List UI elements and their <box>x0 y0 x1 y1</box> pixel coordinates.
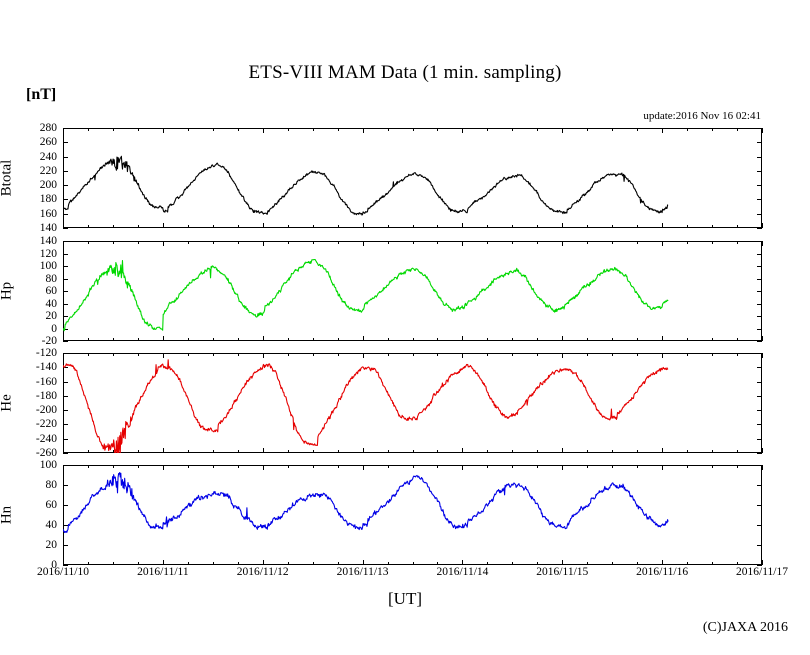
x-tick-mark <box>762 560 763 565</box>
y-tick-label: 200 <box>40 179 57 191</box>
y-tick-label: 80 <box>46 479 58 491</box>
y-tick-label: -160 <box>36 376 57 388</box>
x-tick-mark <box>762 465 763 470</box>
data-trace-hn <box>63 465 762 565</box>
x-tick-label: 2016/11/10 <box>37 566 89 578</box>
y-tick-label: -220 <box>36 418 57 430</box>
y-tick-label: -200 <box>36 404 57 416</box>
y-tick-label: 100 <box>40 459 57 471</box>
x-tick-label: 2016/11/17 <box>736 566 788 578</box>
y-tick-label: 0 <box>51 323 57 335</box>
x-axis-label: [UT] <box>0 589 810 609</box>
y-tick-label: 100 <box>40 260 57 272</box>
y-tick-label: 60 <box>46 285 58 297</box>
y-axis-label-btotal: Btotal <box>0 160 16 197</box>
x-tick-mark <box>762 241 763 246</box>
plot-panel-btotal: 140160180200220240260280Btotal <box>63 128 762 228</box>
y-tick-mark <box>63 228 68 229</box>
y-tick-label: 160 <box>40 208 57 220</box>
x-tick-mark <box>762 336 763 341</box>
y-tick-label: 80 <box>46 273 58 285</box>
chart-title: ETS-VIII MAM Data (1 min. sampling) <box>0 62 810 84</box>
y-tick-mark <box>757 341 762 342</box>
y-tick-mark <box>63 341 68 342</box>
y-tick-label: 240 <box>40 151 57 163</box>
y-tick-label: 140 <box>40 235 57 247</box>
y-axis-label-hn: Hn <box>0 506 16 524</box>
x-tick-label: 2016/11/15 <box>536 566 588 578</box>
y-tick-label: 140 <box>40 222 57 234</box>
y-tick-label: -260 <box>36 447 57 459</box>
y-tick-label: 260 <box>40 136 57 148</box>
y-tick-label: 180 <box>40 193 57 205</box>
y-tick-label: 20 <box>46 539 58 551</box>
y-tick-label: 60 <box>46 499 58 511</box>
y-tick-label: 40 <box>46 519 58 531</box>
y-tick-label: -120 <box>36 347 57 359</box>
y-tick-label: 280 <box>40 122 57 134</box>
y-tick-label: -180 <box>36 390 57 402</box>
x-tick-label: 2016/11/12 <box>237 566 289 578</box>
y-axis-label-hp: Hp <box>0 282 16 300</box>
chart-canvas: ETS-VIII MAM Data (1 min. sampling) [nT]… <box>0 0 810 655</box>
y-tick-label: -20 <box>42 335 57 347</box>
x-tick-label: 2016/11/13 <box>337 566 389 578</box>
y-tick-label: 220 <box>40 165 57 177</box>
x-tick-label: 2016/11/14 <box>436 566 488 578</box>
plot-panel-hp: -20020406080100120140Hp <box>63 241 762 341</box>
y-unit-label: [nT] <box>26 86 56 104</box>
x-tick-label: 2016/11/16 <box>636 566 688 578</box>
x-tick-mark <box>762 448 763 453</box>
y-tick-mark <box>757 228 762 229</box>
data-trace-he <box>63 353 762 453</box>
data-trace-hp <box>63 241 762 341</box>
y-axis-label-he: He <box>0 394 16 412</box>
plot-panel-hn: 020406080100Hn <box>63 465 762 565</box>
x-tick-mark <box>762 128 763 133</box>
y-tick-label: 120 <box>40 248 57 260</box>
y-tick-mark <box>757 453 762 454</box>
update-timestamp: update:2016 Nov 16 02:41 <box>643 110 761 122</box>
y-tick-label: -140 <box>36 361 57 373</box>
x-tick-label: 2016/11/11 <box>137 566 189 578</box>
x-tick-mark <box>762 353 763 358</box>
y-tick-mark <box>63 453 68 454</box>
data-trace-btotal <box>63 128 762 228</box>
copyright-notice: (C)JAXA 2016 <box>703 620 788 636</box>
y-tick-label: 20 <box>46 310 58 322</box>
y-tick-label: -240 <box>36 433 57 445</box>
x-tick-mark <box>762 223 763 228</box>
y-tick-label: 40 <box>46 298 58 310</box>
plot-panel-he: -260-240-220-200-180-160-140-120He <box>63 353 762 453</box>
